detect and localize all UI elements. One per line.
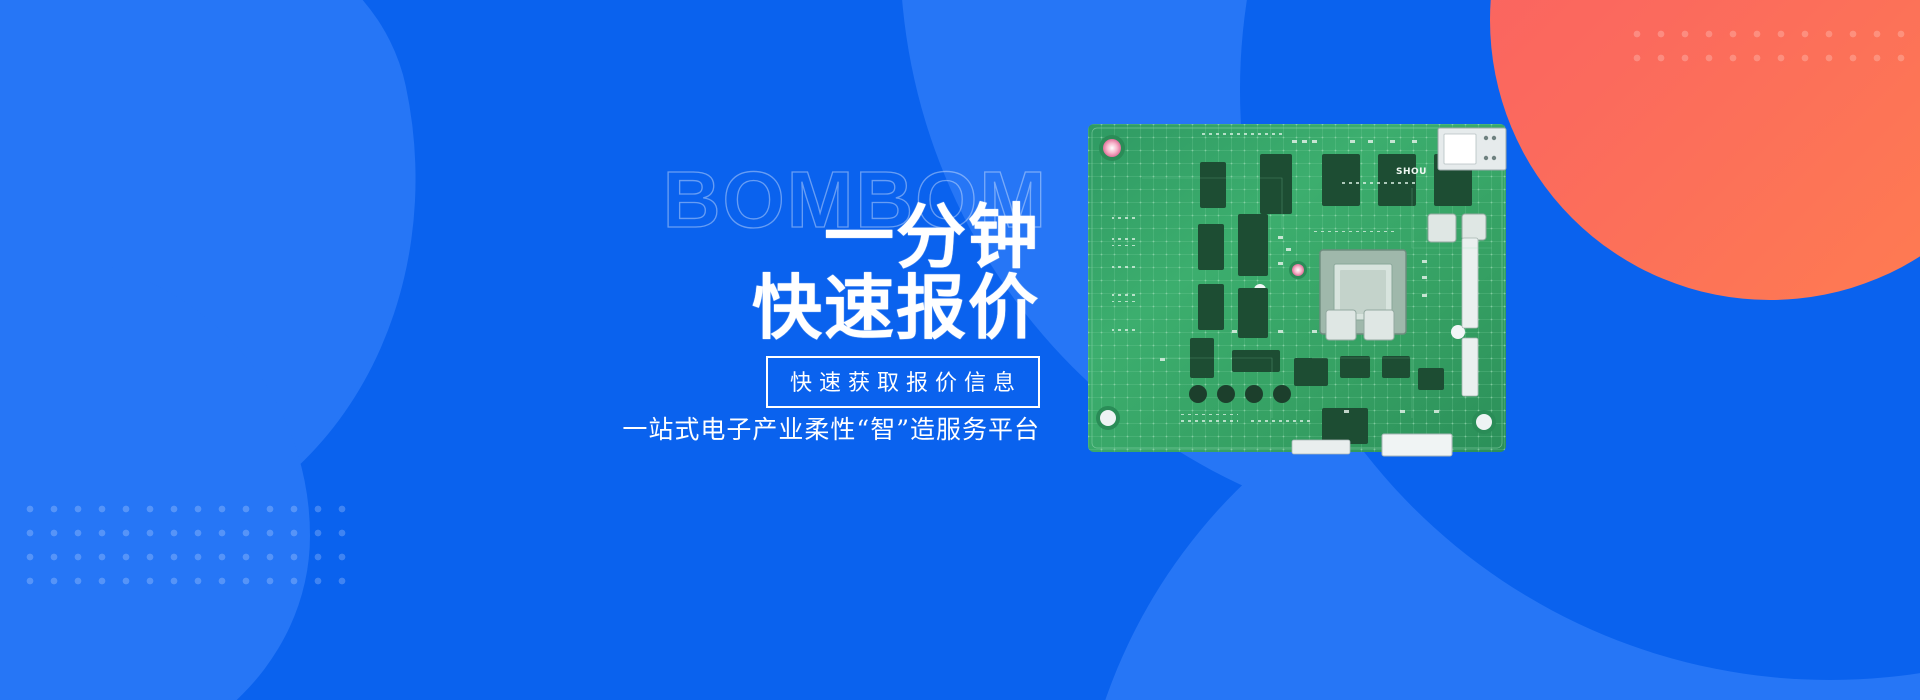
headline-line-1: 一分钟 (640, 202, 1040, 273)
promo-banner: SHOU BOMBOM 一分钟 快速报价 快速获取报价信息 一站式电子产业柔性“… (0, 0, 1920, 700)
dot-grid-bottom-left (18, 497, 348, 597)
get-quote-button[interactable]: 快速获取报价信息 (766, 356, 1040, 408)
pcb-board-svg: SHOU (1082, 118, 1512, 458)
headline-line-2: 快速报价 (640, 273, 1040, 344)
page-title: 一分钟 快速报价 (640, 202, 1040, 345)
tagline: 一站式电子产业柔性“智”造服务平台 (622, 410, 1040, 446)
hero-text-block: BOMBOM 一分钟 快速报价 快速获取报价信息 一站式电子产业柔性“智”造服务… (640, 160, 1040, 420)
dot-grid-top-right (1625, 22, 1920, 62)
pcb-silkscreen-label: SHOU (1396, 167, 1427, 177)
pcb-board-image: SHOU (1082, 118, 1512, 458)
